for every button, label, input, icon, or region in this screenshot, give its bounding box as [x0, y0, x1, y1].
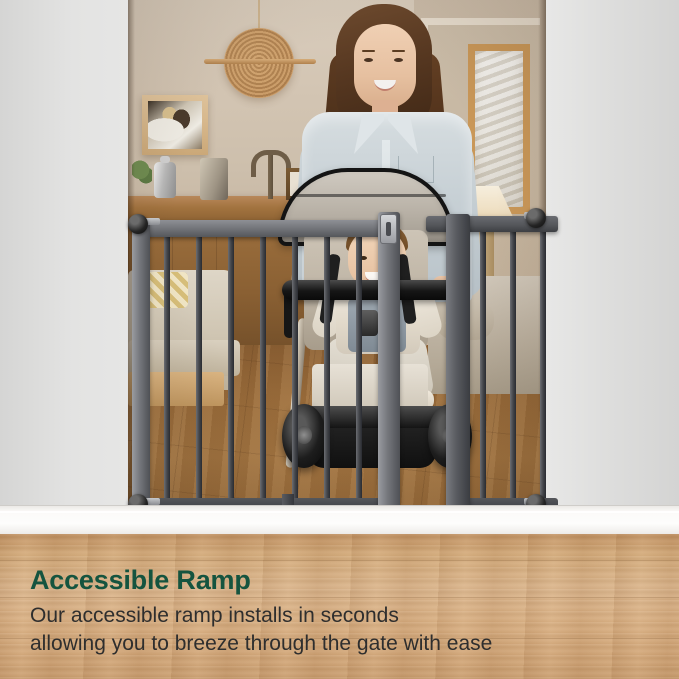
coffee-grinder	[200, 158, 228, 200]
gate-extension-bar	[540, 230, 546, 500]
gate-top-rail	[136, 220, 396, 237]
wall-right-shading	[543, 0, 679, 524]
wall-left-shading	[0, 0, 132, 524]
product-lifestyle-image: Accessible Ramp Our accessible ramp inst…	[0, 0, 679, 679]
kitchen-faucet-stem	[268, 155, 273, 199]
mount-knob-top-left[interactable]	[128, 214, 148, 234]
gate-latch-post[interactable]	[378, 212, 400, 518]
gate-extension-bar	[510, 230, 516, 500]
caption-block: Accessible Ramp Our accessible ramp inst…	[30, 565, 650, 657]
rattan-hanging-cord	[258, 0, 260, 30]
floor-plank-seam	[0, 560, 679, 561]
gate-bar	[324, 232, 330, 502]
gate-bar	[164, 232, 170, 502]
eyebrow-right	[392, 50, 405, 52]
eye-left	[364, 58, 373, 62]
face	[354, 24, 416, 108]
stovetop-kettle	[154, 162, 176, 198]
gate-extension-bar	[480, 230, 486, 500]
gate-latch-button[interactable]	[380, 214, 397, 244]
gate-extension-post	[446, 214, 470, 518]
caption-line-1: Our accessible ramp installs in seconds	[30, 602, 650, 630]
gate-bar	[356, 232, 362, 502]
gate-bar	[260, 232, 266, 502]
gate-bar	[292, 232, 298, 502]
framed-artwork	[142, 95, 208, 155]
eye-right	[394, 58, 403, 62]
caption-line-2: allowing you to breeze through the gate …	[30, 630, 650, 658]
artwork-canvas	[148, 101, 202, 149]
caption-title: Accessible Ramp	[30, 565, 650, 596]
eyebrow-left	[362, 50, 375, 52]
gate-bar	[196, 232, 202, 502]
baby-safety-gate	[128, 206, 546, 536]
gate-bar	[228, 232, 234, 502]
mount-knob-top-right[interactable]	[526, 208, 546, 228]
gate-hinge-post	[132, 220, 150, 516]
counter-plant	[132, 160, 152, 188]
